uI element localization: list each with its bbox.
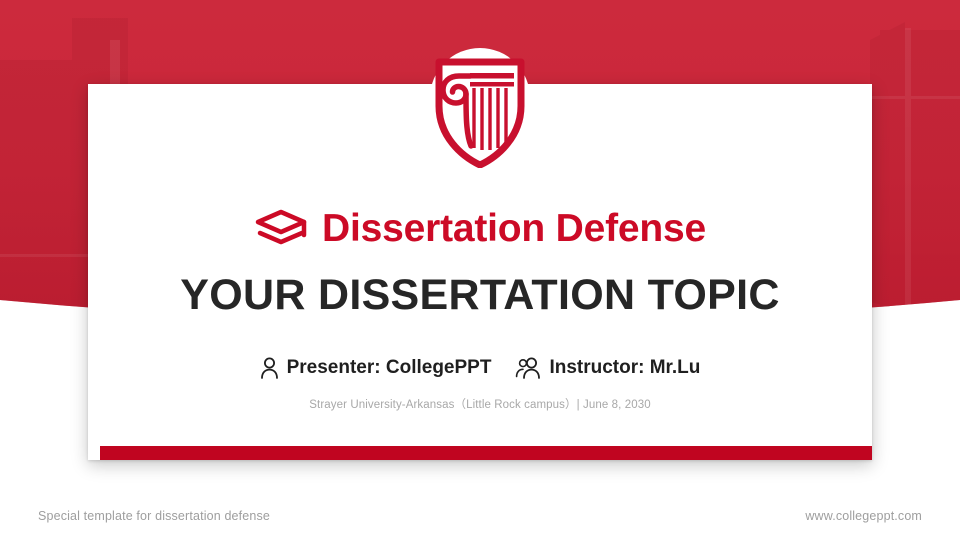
footer-left-text: Special template for dissertation defens… [38, 509, 270, 523]
presenter-label: Presenter: CollegePPT [287, 357, 492, 379]
card-accent-bar [100, 446, 872, 460]
institution-date-line: Strayer University-Arkansas（Little Rock … [88, 396, 872, 412]
slide-footer: Special template for dissertation defens… [0, 492, 960, 540]
people-row: Presenter: CollegePPT Instructor: Mr.Lu [88, 357, 872, 379]
instructor-item: Instructor: Mr.Lu [515, 357, 700, 379]
footer-right-text: www.collegeppt.com [805, 509, 922, 523]
university-shield-logo [421, 40, 539, 168]
page-title: YOUR DISSERTATION TOPIC [88, 273, 872, 319]
title-slide: Dissertation Defense YOUR DISSERTATION T… [0, 0, 960, 540]
presenter-item: Presenter: CollegePPT [260, 357, 492, 379]
instructor-label: Instructor: Mr.Lu [549, 357, 700, 379]
graduation-cap-icon [254, 208, 308, 248]
two-people-icon [515, 357, 541, 379]
single-person-icon [260, 357, 279, 379]
university-shield-column-icon [421, 40, 539, 168]
headline-row: Dissertation Defense [88, 202, 872, 254]
headline-text: Dissertation Defense [322, 209, 706, 248]
